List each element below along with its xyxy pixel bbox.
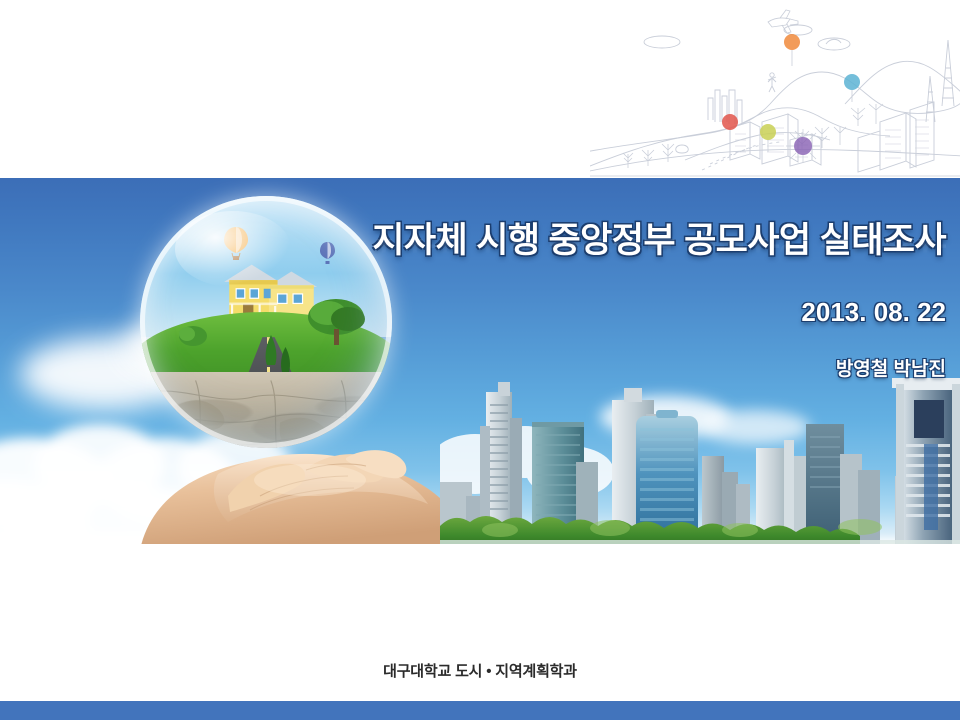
presentation-date-reflection: 2013. 08. 22 xyxy=(372,312,946,328)
hot-air-balloon-small-icon xyxy=(319,241,336,265)
header-band xyxy=(0,0,960,178)
bottom-accent-bar xyxy=(0,701,960,720)
globe-tree-large xyxy=(306,297,368,347)
title-slide: 지자체 시행 중앙정부 공모사업 실태조사 지자체 시행 중앙정부 공모사업 실… xyxy=(0,0,960,720)
department-footer: 대구대학교 도시 • 지역계획학과 xyxy=(0,660,960,681)
globe-interior xyxy=(140,196,392,448)
lineart-color-accents xyxy=(722,34,860,163)
glass-globe xyxy=(140,196,392,448)
globe-cypress-tree xyxy=(263,335,279,369)
city-hills-sketch-illustration xyxy=(590,0,960,178)
presenter-names: 방영철 박남진 xyxy=(372,354,946,381)
slide-title-reflection: 지자체 시행 중앙정부 공모사업 실태조사 xyxy=(372,239,946,261)
globe-cypress-tree xyxy=(279,347,292,375)
title-block: 지자체 시행 중앙정부 공모사업 실태조사 지자체 시행 중앙정부 공모사업 실… xyxy=(372,222,946,381)
globe-bush xyxy=(178,322,208,350)
hero-image-band: 지자체 시행 중앙정부 공모사업 실태조사 지자체 시행 중앙정부 공모사업 실… xyxy=(0,178,960,544)
globe-map-lines xyxy=(140,372,392,448)
